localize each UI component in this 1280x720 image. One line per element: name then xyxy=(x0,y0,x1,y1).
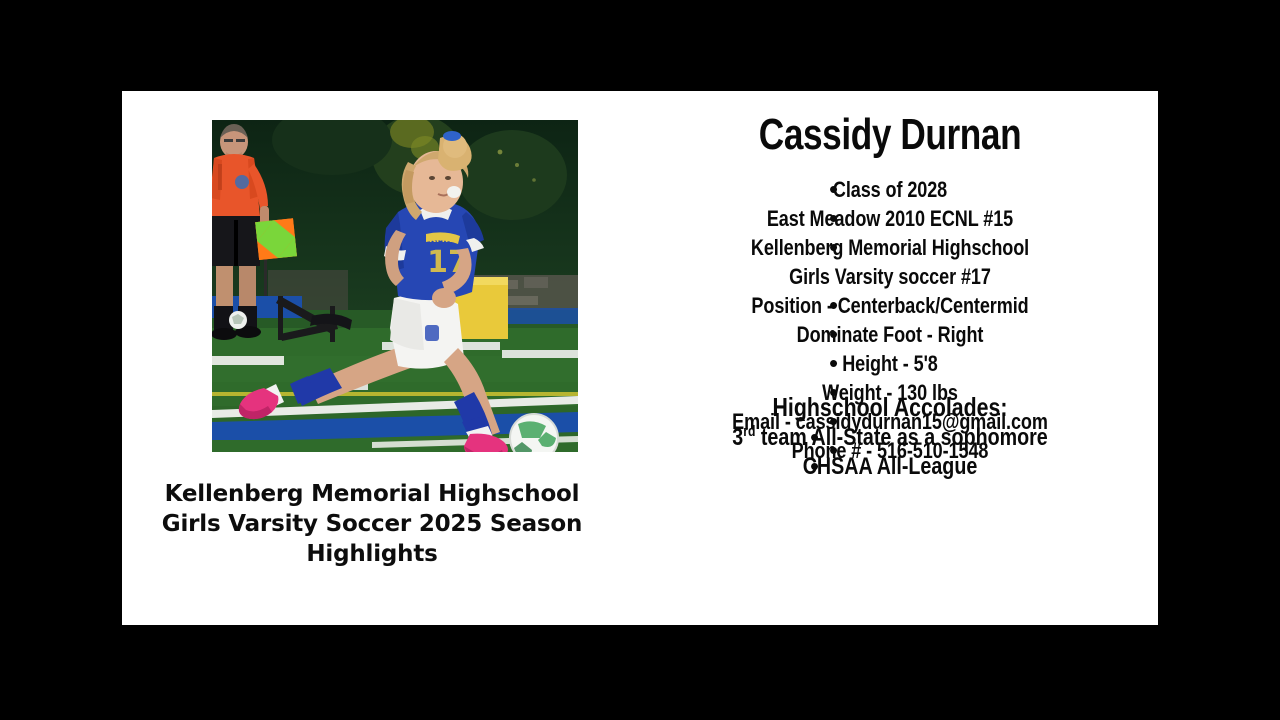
caption-line-1: Kellenberg Memorial Highschool xyxy=(152,479,592,509)
info-list-item-label: East Meadow 2010 ECNL #15 xyxy=(670,204,1110,233)
info-list-item-label: Height - 5'8 xyxy=(670,349,1110,378)
info-list-item-label: Kellenberg Memorial Highschool xyxy=(670,233,1110,262)
info-list-item: East Meadow 2010 ECNL #15 xyxy=(622,204,1158,233)
info-list-item: Girls Varsity soccer #17 xyxy=(622,262,1158,291)
photo-caption: Kellenberg Memorial Highschool Girls Var… xyxy=(152,479,592,569)
accolades-list: 3rd team All-State as a sophomoreCHSAA A… xyxy=(622,423,1158,481)
info-list-item-label: Class of 2028 xyxy=(670,175,1110,204)
right-column: Cassidy Durnan Class of 2028East Meadow … xyxy=(622,91,1158,625)
info-list-item-label: Position - Centerback/Centermid xyxy=(670,291,1110,320)
player-name-title: Cassidy Durnan xyxy=(676,111,1105,159)
info-list-item-label: Girls Varsity soccer #17 xyxy=(670,262,1110,291)
accolade-item: CHSAA All-League xyxy=(622,452,1158,481)
accolade-item-label: CHSAA All-League xyxy=(670,452,1110,481)
player-photo: KMHS 17 xyxy=(212,120,578,452)
accolades-heading: Highschool Accolades: xyxy=(670,391,1110,423)
info-list-item: Class of 2028 xyxy=(622,175,1158,204)
caption-line-2: Girls Varsity Soccer 2025 Season xyxy=(152,509,592,539)
accolade-item: 3rd team All-State as a sophomore xyxy=(622,423,1158,452)
info-list-item: Position - Centerback/Centermid xyxy=(622,291,1158,320)
info-list-item: Dominate Foot - Right xyxy=(622,320,1158,349)
left-column: KMHS 17 xyxy=(122,91,622,625)
caption-line-3: Highlights xyxy=(152,539,592,569)
info-list-item-label: Dominate Foot - Right xyxy=(670,320,1110,349)
ordinal-suffix: rd xyxy=(743,424,755,440)
accolades-section: Highschool Accolades: 3rd team All-State… xyxy=(622,391,1158,481)
slide-letterbox: KMHS 17 xyxy=(0,0,1280,720)
accolade-item-label: 3rd team All-State as a sophomore xyxy=(670,423,1110,452)
player-photo-artwork: KMHS 17 xyxy=(212,120,578,452)
presentation-slide: KMHS 17 xyxy=(122,91,1158,625)
svg-text:KMHS: KMHS xyxy=(429,235,459,245)
info-list-item: Height - 5'8 xyxy=(622,349,1158,378)
info-list-item: Kellenberg Memorial Highschool xyxy=(622,233,1158,262)
